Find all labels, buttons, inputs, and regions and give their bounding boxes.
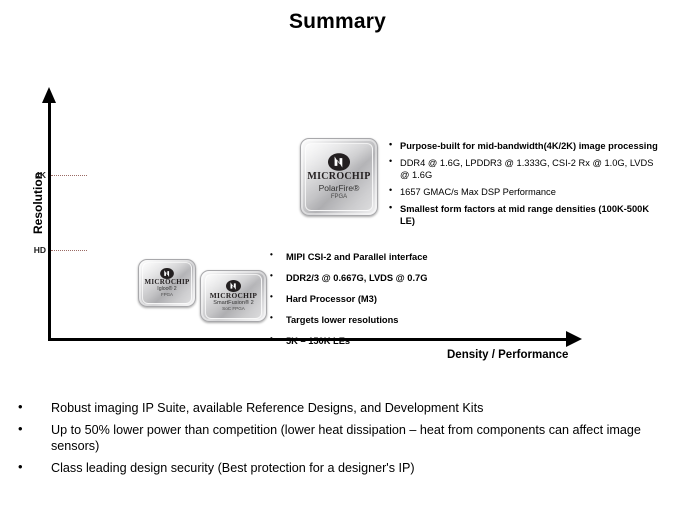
x-axis-arrow-icon [566, 331, 582, 347]
list-item: DDR2/3 @ 0.667G, LVDS @ 0.7G [270, 272, 520, 284]
list-item: DDR4 @ 1.6G, LPDDR3 @ 1.333G, CSI-2 Rx @… [389, 157, 661, 181]
chip-smartfusion2-sub: SoC FPGA [222, 307, 245, 312]
callout-list-polarfire: Purpose-built for mid-bandwidth(4K/2K) i… [389, 140, 661, 232]
positioning-chart: Resolution Density / Performance 4K HD M… [0, 0, 675, 395]
chip-igloo2-face: MICROCHIP Igloo® 2 FPGA [142, 262, 192, 304]
list-item: Purpose-built for mid-bandwidth(4K/2K) i… [389, 140, 661, 152]
chip-smartfusion2-face: MICROCHIP SmartFusion® 2 SoC FPGA [205, 274, 263, 319]
chip-polarfire-sub: FPGA [331, 194, 347, 200]
list-item: Up to 50% lower power than competition (… [16, 422, 666, 455]
y-tick-line-4k [51, 175, 87, 176]
chip-igloo2-sub: FPGA [161, 293, 173, 298]
chip-polarfire-brand: MICROCHIP [307, 172, 370, 182]
summary-bullet-list: Robust imaging IP Suite, available Refer… [16, 400, 666, 481]
chip-polarfire-name: PolarFire® [319, 184, 360, 193]
chip-polarfire-face: MICROCHIP PolarFire® FPGA [305, 143, 372, 210]
y-tick-label-hd: HD [22, 245, 46, 255]
list-item: Class leading design security (Best prot… [16, 460, 666, 477]
chip-polarfire: MICROCHIP PolarFire® FPGA [300, 138, 378, 216]
y-tick-line-hd [51, 250, 87, 251]
chip-igloo2: MICROCHIP Igloo® 2 FPGA [138, 259, 196, 307]
chip-smartfusion2: MICROCHIP SmartFusion® 2 SoC FPGA [200, 270, 267, 322]
y-axis-line [48, 100, 51, 341]
microchip-logo-icon [328, 153, 350, 171]
y-axis-title: Resolution [31, 153, 45, 253]
list-item: Robust imaging IP Suite, available Refer… [16, 400, 666, 417]
chip-smartfusion2-brand: MICROCHIP [210, 292, 257, 299]
callout-list-lowend: MIPI CSI-2 and Parallel interface DDR2/3… [270, 251, 520, 356]
list-item: MIPI CSI-2 and Parallel interface [270, 251, 520, 263]
list-item: Smallest form factors at mid range densi… [389, 203, 661, 227]
list-item: 1657 GMAC/s Max DSP Performance [389, 186, 661, 198]
list-item: Hard Processor (M3) [270, 293, 520, 305]
list-item: Targets lower resolutions [270, 314, 520, 326]
list-item: 5K – 150K LEs [270, 335, 520, 347]
y-tick-label-4k: 4K [22, 170, 46, 180]
